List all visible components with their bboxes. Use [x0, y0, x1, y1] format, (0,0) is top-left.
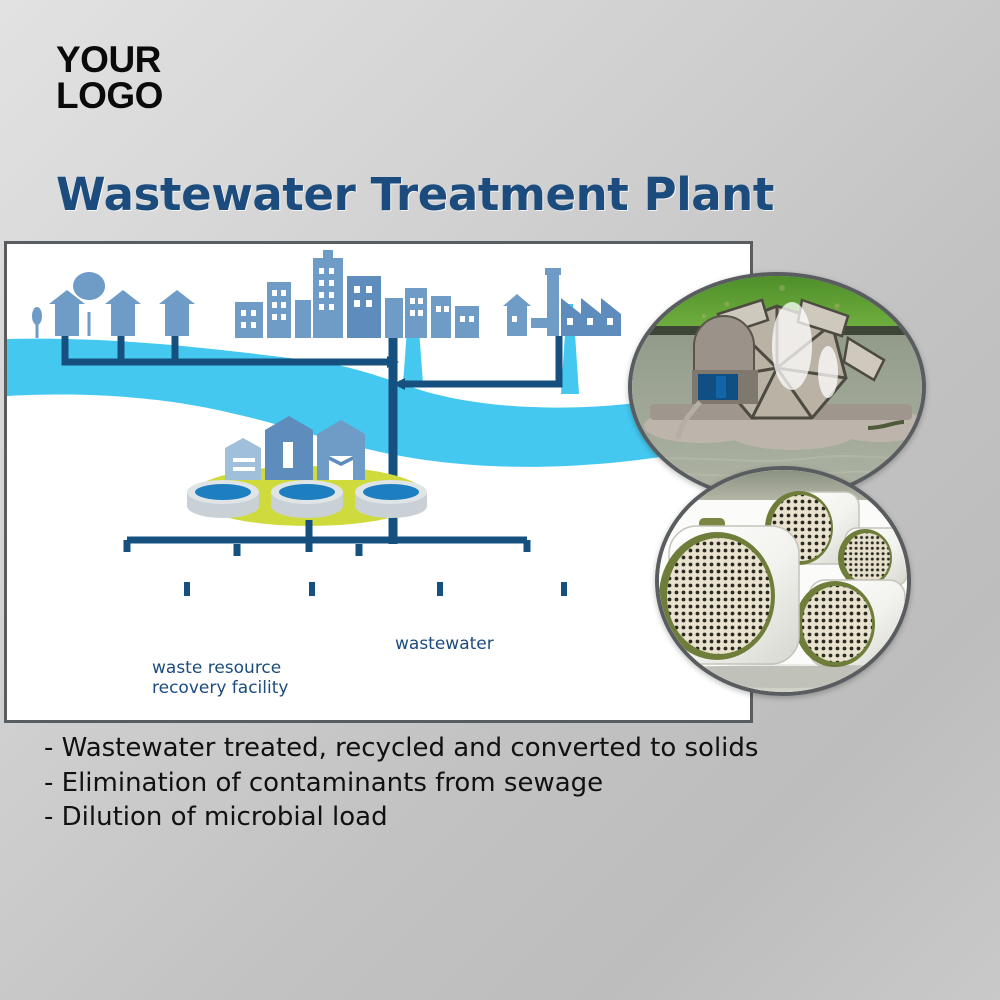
bullet-item-1: - Wastewater treated, recycled and conve… — [44, 731, 944, 766]
label-recovery-facility-line2: recovery facility — [152, 678, 288, 698]
logo-line-2: LOGO — [56, 78, 163, 114]
page-title: Wastewater Treatment Plant — [56, 168, 774, 221]
factory-group — [503, 268, 621, 336]
bullet-list: - Wastewater treated, recycled and conve… — [44, 731, 944, 835]
brand-logo: YOUR LOGO — [56, 42, 163, 114]
bullet-item-3: - Dilution of microbial load — [44, 800, 944, 835]
settling-tanks — [187, 480, 427, 518]
membrane-modules-photo — [655, 466, 911, 696]
logo-line-1: YOUR — [56, 42, 163, 78]
label-recovery-facility-line1: waste resource — [152, 658, 288, 678]
city-skyline-group — [235, 250, 479, 338]
process-diagram — [7, 244, 750, 720]
facility-buildings — [225, 416, 365, 480]
bullet-item-2: - Elimination of contaminants from sewag… — [44, 766, 944, 801]
label-recovery-facility: waste resource recovery facility — [152, 658, 288, 698]
houses-group — [49, 290, 195, 336]
icon-stems — [187, 582, 564, 596]
infographic-panel: wastewater waste resource recovery facil… — [4, 241, 753, 723]
label-wastewater: wastewater — [395, 634, 494, 654]
slide-canvas: YOUR LOGO Wastewater Treatment Plant — [0, 0, 1000, 1000]
